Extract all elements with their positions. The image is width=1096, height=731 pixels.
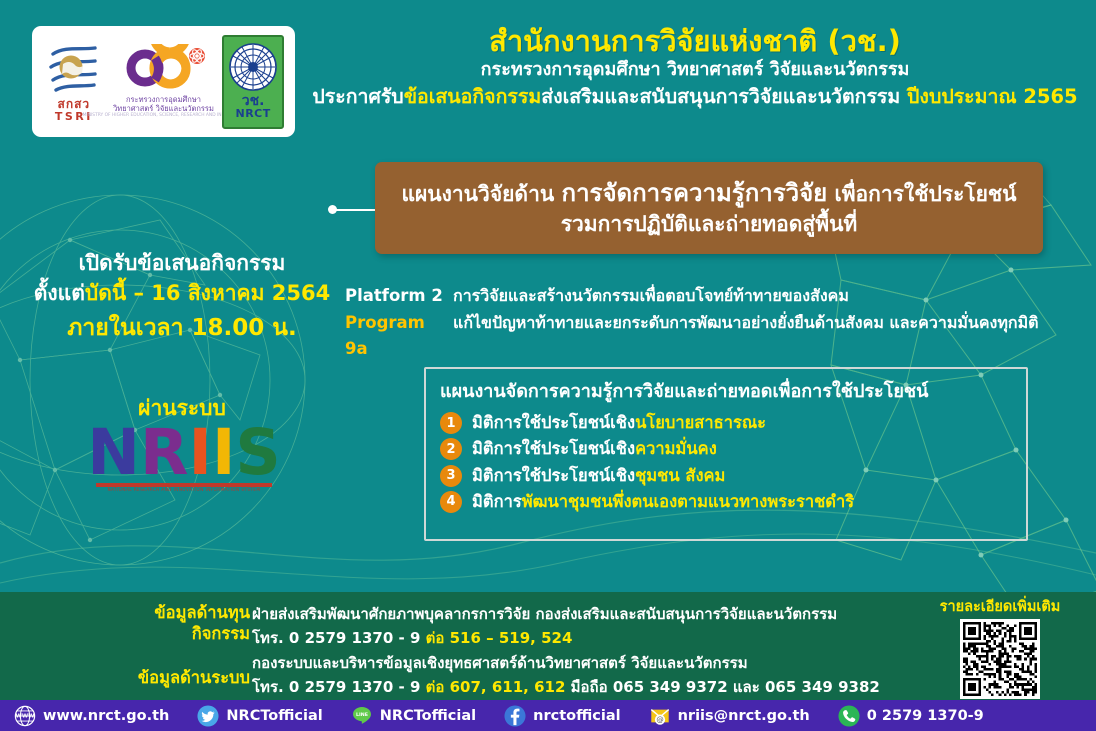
nriis-letter-5: S: [235, 424, 280, 482]
announce-part-4: ปีงบประมาณ 2565: [907, 85, 1078, 108]
announce-part-3: ส่งเสริมและสนับสนุนการวิจัยและนวัตกรรม: [541, 85, 900, 108]
announce-part-1: ประกาศรับ: [312, 85, 403, 108]
social-item-4[interactable]: nrctofficial: [504, 705, 620, 727]
research-plan-dimensions-box: แผนงานจัดการความรู้การวิจัยและถ่ายทอดเพื…: [424, 367, 1028, 541]
program-row: Program 9a แก้ไขปัญหาท้าทายและยกระดับการ…: [345, 310, 1090, 363]
svg-text:@: @: [656, 714, 663, 723]
social-label: www.nrct.go.th: [43, 708, 169, 724]
nrct-english-label: NRCT: [236, 108, 271, 120]
email-icon: @: [649, 705, 671, 727]
footer-label-funding: ข้อมูลด้านทุนกิจกรรม: [100, 602, 250, 645]
organization-logos-card: สกสว TSRI กระทรวงการอุดมศึ: [32, 26, 295, 137]
social-media-bar: WWWwww.nrct.go.thNRCTofficialLINENRCToff…: [0, 700, 1096, 731]
dimension-item: 2มิติการใช้ประโยชน์เชิงความมั่นคง: [440, 438, 1012, 460]
social-label: NRCTofficial: [380, 708, 476, 724]
social-label: nrctofficial: [533, 708, 620, 724]
footer-line-4: โทร. 0 2579 1370 - 9 ต่อ 607, 611, 612 ม…: [252, 675, 892, 699]
qr-code-icon: [963, 622, 1037, 696]
dimension-emphasis: นโยบายสาธารณะ: [635, 413, 766, 432]
date-value: บัดนี้ – 16 สิงหาคม 2564: [85, 281, 330, 305]
platform-key: Platform 2: [345, 283, 453, 310]
banner-line-2: รวมการปฏิบัติและถ่ายทอดสู่พื้นที่: [561, 210, 858, 240]
dimension-text: มิติการใช้ประโยชน์เชิงนโยบายสาธารณะ: [472, 412, 766, 434]
globe-www-icon: WWW: [14, 705, 36, 727]
banner-line1-emphasis: การจัดการความรู้การวิจัย: [562, 179, 828, 207]
announce-part-2: ข้อเสนอกิจกรรม: [404, 85, 542, 108]
mhesi-emblem-icon: [115, 44, 211, 96]
nriis-letter-3: I: [188, 424, 211, 482]
nriis-letter-4: I: [212, 424, 235, 482]
footer-line-2: โทร. 0 2579 1370 - 9 ต่อ 516 – 519, 524: [252, 626, 892, 650]
dimension-emphasis: พัฒนาชุมชนพึ่งตนเองตามแนวทางพระราชดำริ: [522, 492, 854, 511]
program-key: Program 9a: [345, 310, 453, 363]
social-item-1[interactable]: WWWwww.nrct.go.th: [14, 705, 169, 727]
dimension-emphasis: ชุมชน สังคม: [635, 466, 725, 485]
nrct-emblem-icon: [228, 42, 278, 92]
footer-line4-phone: โทร. 0 2579 1370 - 9: [252, 678, 426, 696]
footer-line4-extensions: ต่อ 607, 611, 612: [426, 678, 566, 696]
dimension-prefix: มิติการใช้ประโยชน์เชิง: [472, 413, 635, 432]
tsri-emblem-icon: [45, 40, 103, 98]
qr-code-image[interactable]: [960, 619, 1040, 699]
social-label: nriis@nrct.go.th: [678, 708, 810, 724]
platform-row: Platform 2 การวิจัยและสร้างนวัตกรรมเพื่อ…: [345, 283, 1090, 310]
qr-code-block[interactable]: รายละเอียดเพิ่มเติม: [920, 598, 1080, 699]
list-box-title: แผนงานจัดการความรู้การวิจัยและถ่ายทอดเพื…: [440, 378, 1012, 405]
twitter-icon: [197, 705, 219, 727]
dimension-prefix: มิติการใช้ประโยชน์เชิง: [472, 439, 635, 458]
date-prefix: ตั้งแต่: [34, 281, 85, 305]
social-label: 0 2579 1370-9: [867, 708, 984, 724]
social-item-6[interactable]: 0 2579 1370-9: [838, 705, 984, 727]
nrct-thai-label: วช.: [242, 94, 265, 108]
social-item-5[interactable]: @nriis@nrct.go.th: [649, 705, 810, 727]
nriis-tagline: NATIONAL RESEARCH AND INNOVATION INFORMA…: [96, 488, 272, 493]
research-plan-banner: แผนงานวิจัยด้าน การจัดการความรู้การวิจัย…: [375, 162, 1043, 254]
mhesi-english-subtitle: MINISTRY OF HIGHER EDUCATION, SCIENCE, R…: [83, 114, 245, 119]
footer-line4-mobile: มือถือ 065 349 9372 และ 065 349 9382: [565, 678, 879, 696]
dimension-number-badge-4: 4: [440, 491, 462, 513]
dimension-item: 1มิติการใช้ประโยชน์เชิงนโยบายสาธารณะ: [440, 412, 1012, 434]
dimension-list: 1มิติการใช้ประโยชน์เชิงนโยบายสาธารณะ2มิต…: [440, 412, 1012, 513]
submission-deadline-time: ภายในเวลา 18.00 น.: [22, 309, 342, 348]
line-icon: LINE: [351, 705, 373, 727]
svg-text:LINE: LINE: [356, 712, 368, 718]
footer-line-3: กองระบบและบริหารข้อมูลเชิงยุทธศาสตร์ด้าน…: [252, 651, 892, 675]
program-value: แก้ไขปัญหาท้าทายและยกระดับการพัฒนาอย่างย…: [453, 310, 1039, 336]
social-label: NRCTofficial: [226, 708, 322, 724]
phone-icon: [838, 705, 860, 727]
submission-date-line: ตั้งแต่บัดนี้ – 16 สิงหาคม 2564: [22, 278, 342, 308]
footer-label-system: ข้อมูลด้านระบบ: [100, 667, 250, 688]
dimension-emphasis: ความมั่นคง: [635, 439, 717, 458]
nriis-letter-2: R: [140, 424, 189, 482]
banner-line1-prefix: แผนงานวิจัยด้าน: [401, 182, 561, 206]
dimension-number-badge-1: 1: [440, 412, 462, 434]
connector-line: [336, 209, 380, 211]
header-text-block: สำนักงานการวิจัยแห่งชาติ (วช.) กระทรวงกา…: [300, 24, 1090, 110]
tsri-thai-label: สกสว: [58, 98, 91, 111]
poster-root: สกสว TSRI กระทรวงการอุดมศึ: [0, 0, 1096, 731]
banner-line1-suffix: เพื่อการใช้ประโยชน์: [827, 182, 1016, 206]
tsri-logo: สกสว TSRI: [43, 40, 105, 124]
platform-program-block: Platform 2 การวิจัยและสร้างนวัตกรรมเพื่อ…: [345, 283, 1090, 363]
ministry-subtitle: กระทรวงการอุดมศึกษา วิทยาศาสตร์ วิจัยและ…: [300, 58, 1090, 82]
contact-footer: ข้อมูลด้านทุนกิจกรรม ข้อมูลด้านระบบ ฝ่าย…: [0, 592, 1096, 700]
footer-labels: ข้อมูลด้านทุนกิจกรรม ข้อมูลด้านระบบ: [100, 602, 250, 688]
qr-code-label: รายละเอียดเพิ่มเติม: [920, 598, 1080, 617]
dimension-number-badge-3: 3: [440, 465, 462, 487]
footer-line2-phone: โทร. 0 2579 1370 - 9: [252, 629, 426, 647]
mhesi-ministry-logo: กระทรวงการอุดมศึกษา วิทยาศาสตร์ วิจัยและ…: [110, 44, 216, 119]
svg-text:WWW: WWW: [16, 713, 36, 719]
dimension-text: มิติการใช้ประโยชน์เชิงชุมชน สังคม: [472, 465, 725, 487]
dimension-number-badge-2: 2: [440, 438, 462, 460]
submission-period-block: เปิดรับข้อเสนอกิจกรรม ตั้งแต่บัดนี้ – 16…: [22, 248, 342, 425]
social-item-2[interactable]: NRCTofficial: [197, 705, 322, 727]
dimension-prefix: มิติการ: [472, 492, 522, 511]
dimension-item: 4มิติการพัฒนาชุมชนพึ่งตนเองตามแนวทางพระร…: [440, 491, 1012, 513]
dimension-text: มิติการพัฒนาชุมชนพึ่งตนเองตามแนวทางพระรา…: [472, 491, 854, 513]
dimension-text: มิติการใช้ประโยชน์เชิงความมั่นคง: [472, 438, 717, 460]
nrct-logo: วช. NRCT: [222, 35, 284, 129]
nriis-wordmark: NRIIS: [96, 424, 272, 482]
nriis-letter-1: N: [87, 424, 140, 482]
dimension-item: 3มิติการใช้ประโยชน์เชิงชุมชน สังคม: [440, 465, 1012, 487]
social-item-3[interactable]: LINENRCTofficial: [351, 705, 476, 727]
organization-title: สำนักงานการวิจัยแห่งชาติ (วช.): [300, 24, 1090, 58]
facebook-icon: [504, 705, 526, 727]
dimension-prefix: มิติการใช้ประโยชน์เชิง: [472, 466, 635, 485]
footer-contact-details: ฝ่ายส่งเสริมพัฒนาศักยภาพบุคลากรการวิจัย …: [252, 602, 892, 699]
footer-line-1: ฝ่ายส่งเสริมพัฒนาศักยภาพบุคลากรการวิจัย …: [252, 602, 892, 626]
open-call-heading: เปิดรับข้อเสนอกิจกรรม: [22, 248, 342, 278]
announcement-line: ประกาศรับข้อเสนอกิจกรรมส่งเสริมและสนับสน…: [300, 83, 1090, 110]
footer-line2-extensions: ต่อ 516 – 519, 524: [426, 629, 573, 647]
nriis-logo[interactable]: NRIIS NATIONAL RESEARCH AND INNOVATION I…: [96, 424, 272, 493]
banner-connector-line: [328, 205, 378, 214]
banner-line-1: แผนงานวิจัยด้าน การจัดการความรู้การวิจัย…: [401, 176, 1016, 210]
platform-value: การวิจัยและสร้างนวัตกรรมเพื่อตอบโจทย์ท้า…: [453, 283, 849, 309]
